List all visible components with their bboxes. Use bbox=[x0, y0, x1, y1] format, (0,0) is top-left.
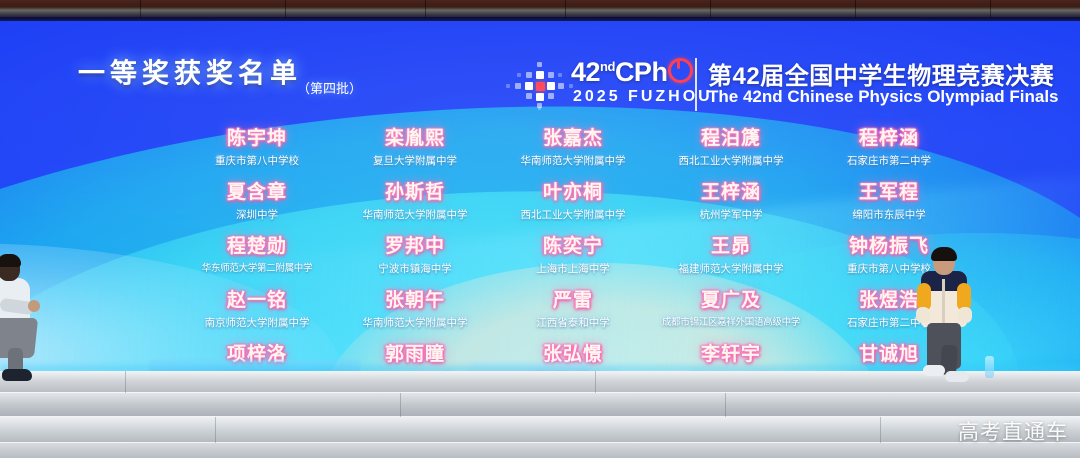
ceiling-seam bbox=[285, 0, 286, 18]
winner-entry: 王军程绵阳市东辰中学 bbox=[810, 181, 968, 232]
event-headline-cn: 第42届全国中学生物理竞赛决赛 bbox=[708, 56, 1054, 91]
logo-cpho: CPh bbox=[615, 57, 668, 87]
winner-name: 张朝午 bbox=[336, 289, 494, 313]
winner-school: 福建师范大学附属中学 bbox=[652, 261, 810, 277]
winner-entry: 孙斯哲华南师范大学附属中学 bbox=[336, 181, 494, 232]
winner-entry: 陈宇坤重庆市第八中学校 bbox=[178, 127, 336, 178]
logo-year-city: 2025 FUZHOU bbox=[573, 88, 713, 106]
winner-school: 华南师范大学附属中学 bbox=[336, 315, 494, 331]
stage-step bbox=[0, 443, 1080, 458]
winner-name: 张嘉杰 bbox=[494, 127, 652, 151]
winner-name: 孙斯哲 bbox=[336, 181, 494, 205]
winner-school: 华南师范大学附属中学 bbox=[336, 207, 494, 223]
winner-name: 赵一铭 bbox=[178, 289, 336, 313]
water-bottle bbox=[985, 356, 994, 378]
winner-name: 夏广及 bbox=[652, 289, 810, 313]
winner-school: 石家庄市第二中学 bbox=[810, 153, 968, 169]
winner-entry: 陈奕宁上海市上海中学 bbox=[494, 235, 652, 286]
step-seam bbox=[880, 417, 881, 443]
winner-name: 程梓涵 bbox=[810, 127, 968, 151]
person-cuff-right bbox=[958, 307, 972, 323]
winner-entry: 严雷江西省泰和中学 bbox=[494, 289, 652, 340]
winner-school: 重庆市第八中学校 bbox=[178, 153, 336, 169]
winner-name: 王军程 bbox=[810, 181, 968, 205]
winner-entry: 夏广及成都市锦江区嘉祥外国语高级中学 bbox=[652, 289, 810, 340]
winner-name: 罗邦中 bbox=[336, 235, 494, 259]
winner-school: 宁波市镇海中学 bbox=[336, 261, 494, 277]
screen-header: 一等奖获奖名单 （第四批） bbox=[0, 21, 1080, 117]
winner-name: 王昴 bbox=[652, 235, 810, 259]
ceiling-seam bbox=[565, 0, 566, 18]
page-title: 一等奖获奖名单 bbox=[78, 52, 302, 91]
logo-ordinal: nd bbox=[600, 59, 615, 74]
person-zipper bbox=[942, 279, 945, 325]
event-headline-en: The 42nd Chinese Physics Olympiad Finals bbox=[708, 87, 1059, 107]
winner-name: 夏含章 bbox=[178, 181, 336, 205]
winner-name: 王梓涵 bbox=[652, 181, 810, 205]
winner-school: 华南师范大学附属中学 bbox=[494, 153, 652, 169]
winner-entry: 张嘉杰华南师范大学附属中学 bbox=[494, 127, 652, 178]
step-seam bbox=[400, 393, 401, 417]
step-seam bbox=[125, 371, 126, 393]
ceiling-seam bbox=[710, 0, 711, 18]
winner-entry: 程楚勋华东师范大学第二附属中学 bbox=[178, 235, 336, 286]
winner-entry: 王昴福建师范大学附属中学 bbox=[652, 235, 810, 286]
ceiling-seam bbox=[140, 0, 141, 18]
winner-name: 严雷 bbox=[494, 289, 652, 313]
event-logo: 42ndCPh 2025 FUZHOU 第42届全国中学生物理竞赛决赛 The … bbox=[505, 57, 1025, 113]
logo-divider bbox=[695, 58, 697, 111]
winner-school: 江西省泰和中学 bbox=[494, 315, 652, 331]
winner-entry: 王梓涵杭州学军中学 bbox=[652, 181, 810, 232]
winner-entry: 程泊篪西北工业大学附属中学 bbox=[652, 127, 810, 178]
broadcast-screenshot: 一等奖获奖名单 （第四批） bbox=[0, 0, 1080, 458]
person-shoe bbox=[923, 365, 945, 376]
person-cuff-left bbox=[916, 307, 930, 323]
person-hair bbox=[0, 254, 21, 267]
winner-school: 杭州学军中学 bbox=[652, 207, 810, 223]
winner-name: 李轩宇 bbox=[652, 343, 810, 367]
person-shoe bbox=[2, 369, 32, 381]
winner-entry: 罗邦中宁波市镇海中学 bbox=[336, 235, 494, 286]
logo-number: 42 bbox=[571, 57, 600, 87]
ceiling-seam bbox=[855, 0, 856, 18]
winner-school: 复旦大学附属中学 bbox=[336, 153, 494, 169]
winner-school: 上海市上海中学 bbox=[494, 261, 652, 277]
ceiling-seam bbox=[990, 0, 991, 18]
winner-entry: 栾胤熙复旦大学附属中学 bbox=[336, 127, 494, 178]
winner-name: 叶亦桐 bbox=[494, 181, 652, 205]
winner-school: 绵阳市东辰中学 bbox=[810, 207, 968, 223]
stage-step bbox=[0, 417, 1080, 443]
step-seam bbox=[215, 417, 216, 443]
winner-school: 华东师范大学第二附属中学 bbox=[178, 261, 336, 277]
watermark: 高考直通车 bbox=[958, 416, 1068, 446]
winner-school: 成都市锦江区嘉祥外国语高级中学 bbox=[652, 315, 810, 331]
person-standing-right bbox=[915, 249, 975, 385]
winner-name: 陈奕宁 bbox=[494, 235, 652, 259]
dot-star-icon bbox=[505, 61, 577, 111]
winner-entry: 程梓涵石家庄市第二中学 bbox=[810, 127, 968, 178]
winners-grid: 陈宇坤重庆市第八中学校 栾胤熙复旦大学附属中学 张嘉杰华南师范大学附属中学 程泊… bbox=[178, 127, 968, 373]
winner-name: 程泊篪 bbox=[652, 127, 810, 151]
winner-school: 南京师范大学附属中学 bbox=[178, 315, 336, 331]
person-hand bbox=[28, 300, 40, 312]
person-hair bbox=[931, 247, 957, 261]
winner-entry: 夏含章深圳中学 bbox=[178, 181, 336, 232]
winner-entry: 赵一铭南京师范大学附属中学 bbox=[178, 289, 336, 340]
logo-o-ring-icon bbox=[668, 58, 693, 83]
step-seam bbox=[725, 393, 726, 417]
winner-name: 栾胤熙 bbox=[336, 127, 494, 151]
winner-school: 深圳中学 bbox=[178, 207, 336, 223]
winner-entry: 张朝午华南师范大学附属中学 bbox=[336, 289, 494, 340]
winner-entry: 叶亦桐西北工业大学附属中学 bbox=[494, 181, 652, 232]
winner-name: 陈宇坤 bbox=[178, 127, 336, 151]
page-title-batch: （第四批） bbox=[297, 78, 362, 97]
ceiling-seam bbox=[425, 0, 426, 18]
stage-step bbox=[0, 393, 1080, 417]
person-seated-left bbox=[0, 256, 50, 380]
winner-school: 西北工业大学附属中学 bbox=[494, 207, 652, 223]
step-seam bbox=[595, 371, 596, 393]
winner-name: 程楚勋 bbox=[178, 235, 336, 259]
logo-cpho-text: 42ndCPh bbox=[571, 57, 693, 88]
winner-school: 西北工业大学附属中学 bbox=[652, 153, 810, 169]
person-shoe bbox=[945, 371, 969, 382]
